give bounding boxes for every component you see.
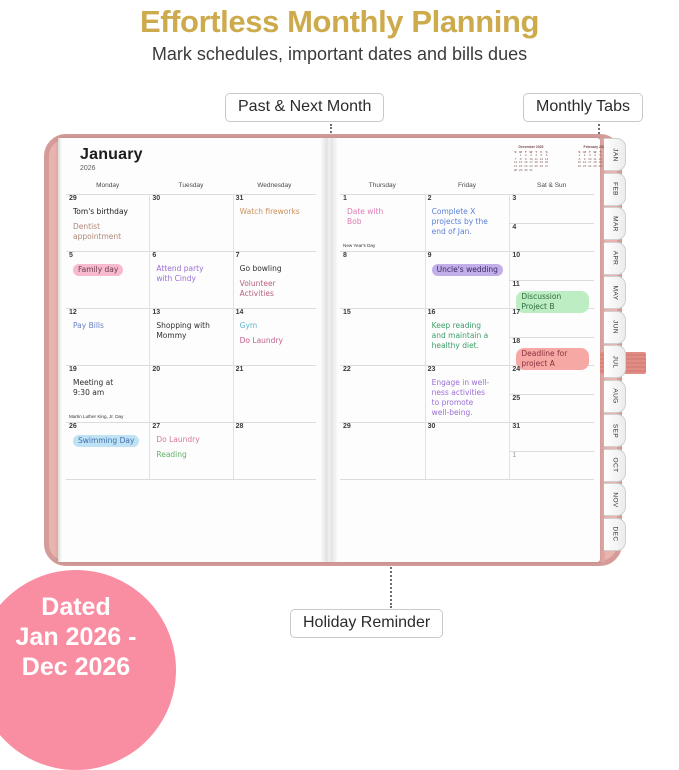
mini-calendar-day: 31: [528, 169, 533, 173]
day-number: 14: [236, 309, 244, 316]
calendar-day-cell[interactable]: 23Engage in well- ness activities to pro…: [425, 365, 510, 422]
note-highlight: Family day: [73, 264, 123, 276]
calendar-note[interactable]: Attend party with Cindy: [156, 264, 227, 284]
calendar-day-cell[interactable]: 8: [340, 251, 425, 308]
page-subtitle: Mark schedules, important dates and bill…: [0, 44, 679, 65]
month-tab-apr[interactable]: APR: [604, 242, 626, 275]
calendar-header: January2026: [80, 146, 143, 172]
day-number: 29: [343, 423, 351, 430]
badge-line-3: Dec 2026: [0, 652, 176, 682]
calendar-day-cell[interactable]: 22: [340, 365, 425, 422]
month-tab-feb[interactable]: FEB: [604, 173, 626, 206]
calendar-day-cell[interactable]: 27Do LaundryReading: [149, 422, 232, 479]
calendar-weekend-cell[interactable]: 24: [509, 365, 594, 394]
day-number: 9: [428, 252, 432, 259]
calendar-weekend-cell[interactable]: 10: [509, 251, 594, 280]
page-title: Effortless Monthly Planning: [0, 4, 679, 40]
calendar-weekend-cell[interactable]: 4: [509, 223, 594, 252]
note-highlight: Uncle's wedding: [432, 264, 503, 276]
calendar-note[interactable]: Engage in well- ness activities to promo…: [432, 378, 505, 418]
calendar-note[interactable]: Uncle's wedding: [432, 264, 505, 276]
mini-calendar-day: [544, 169, 549, 173]
calendar-weekend-cell[interactable]: 17: [509, 308, 594, 337]
calendar-note[interactable]: Complete X projects by the end of Jan.: [432, 207, 505, 237]
calendar-note[interactable]: Go bowling: [240, 264, 311, 274]
calendar-day-cell[interactable]: 28: [233, 422, 316, 479]
grid-line: [340, 479, 594, 480]
month-tab-label: DEC: [611, 527, 618, 542]
day-number: 23: [428, 366, 436, 373]
calendar-day-cell[interactable]: 13Shopping with Mommy: [149, 308, 232, 365]
day-number: 4: [512, 224, 516, 231]
calendar-note[interactable]: Tom's birthday: [73, 207, 144, 217]
calendar-day-cell[interactable]: 9Uncle's wedding: [425, 251, 510, 308]
month-tab-jun[interactable]: JUN: [604, 311, 626, 344]
calendar-day-cell[interactable]: 14GymDo Laundry: [233, 308, 316, 365]
day-number: 29: [69, 195, 77, 202]
month-tab-jul[interactable]: JUL: [604, 345, 626, 378]
grid-line: [66, 479, 316, 480]
calendar-note[interactable]: Swimming Day: [73, 435, 144, 447]
day-number: 6: [152, 252, 156, 259]
month-tab-label: JUN: [611, 320, 618, 334]
day-number: 2: [428, 195, 432, 202]
calendar-note[interactable]: Shopping with Mommy: [156, 321, 227, 341]
calendar-weekend-cell[interactable]: 11Discussion Project B: [509, 280, 594, 309]
weekday-label: Friday: [425, 182, 510, 189]
calendar-note[interactable]: Family day: [73, 264, 144, 276]
weekday-label: Monday: [66, 182, 149, 189]
badge-line-1: Dated: [0, 592, 176, 622]
day-number: 27: [152, 423, 160, 430]
callout-monthly-tabs: Monthly Tabs: [523, 93, 643, 122]
day-number: 18: [512, 338, 520, 345]
month-tab-label: NOV: [611, 492, 618, 507]
day-number: 11: [512, 281, 519, 288]
day-number: 7: [236, 252, 240, 259]
calendar-note[interactable]: Gym: [240, 321, 311, 331]
calendar-note[interactable]: Volunteer Activities: [240, 279, 311, 299]
mini-calendar-day: 30: [523, 169, 528, 173]
calendar-note[interactable]: Date with Bob: [347, 207, 420, 227]
calendar-month-label: January: [80, 146, 143, 164]
calendar-day-cell[interactable]: 6Attend party with Cindy: [149, 251, 232, 308]
day-number: 17: [512, 309, 520, 316]
weekday-label: Sat & Sun: [509, 182, 594, 189]
holiday-label: Martin Luther King, Jr. Day: [69, 414, 123, 419]
mini-calendar-prev[interactable]: December 2025SMTWTFS12345678910111213141…: [502, 146, 560, 172]
day-number: 28: [236, 423, 244, 430]
calendar-note[interactable]: Dentist appointment: [73, 222, 144, 242]
day-number: 13: [152, 309, 160, 316]
calendar-day-cell[interactable]: 31Watch fireworks: [233, 194, 316, 251]
month-tab-label: FEB: [611, 182, 618, 196]
day-number: 22: [343, 366, 351, 373]
weekday-label: Thursday: [340, 182, 425, 189]
calendar-note[interactable]: Keep reading and maintain a healthy diet…: [432, 321, 505, 351]
month-tab-label: JAN: [611, 148, 618, 161]
calendar-day-cell[interactable]: 15: [340, 308, 425, 365]
day-number: 31: [512, 423, 520, 430]
calendar-note[interactable]: Meeting at 9:30 am: [73, 378, 144, 398]
calendar-day-cell[interactable]: 7Go bowlingVolunteer Activities: [233, 251, 316, 308]
calendar-weekend-cell[interactable]: 3: [509, 194, 594, 223]
month-tab-jan[interactable]: JAN: [604, 138, 626, 171]
calendar-day-cell[interactable]: 30: [425, 422, 510, 479]
day-number: 26: [69, 423, 77, 430]
month-tab-label: OCT: [611, 458, 618, 473]
day-number: 1: [512, 452, 516, 459]
month-tab-oct[interactable]: OCT: [604, 449, 626, 482]
month-tab-mar[interactable]: MAR: [604, 207, 626, 240]
day-number: 3: [512, 195, 516, 202]
day-number: 12: [69, 309, 77, 316]
note-highlight: Swimming Day: [73, 435, 139, 447]
day-number: 8: [343, 252, 347, 259]
day-number: 5: [69, 252, 73, 259]
weekday-label: Tuesday: [149, 182, 232, 189]
calendar-day-cell[interactable]: 19Meeting at 9:30 amMartin Luther King, …: [66, 365, 149, 422]
weekday-label: Wednesday: [233, 182, 316, 189]
calendar-day-cell[interactable]: 21: [233, 365, 316, 422]
day-number: 15: [343, 309, 351, 316]
month-tab-label: MAY: [611, 285, 618, 300]
month-tab-nov[interactable]: NOV: [604, 483, 626, 516]
page-edge-left: [58, 138, 62, 562]
calendar-day-cell[interactable]: 20: [149, 365, 232, 422]
month-tab-sep[interactable]: SEP: [604, 414, 626, 447]
month-tab-label: JUL: [611, 355, 618, 368]
day-number: 16: [428, 309, 436, 316]
calendar-day-cell[interactable]: 1Date with BobNew Year's Day: [340, 194, 425, 251]
calendar-weekend-cell[interactable]: 25: [509, 394, 594, 423]
day-number: 1: [343, 195, 347, 202]
calendar-day-cell[interactable]: 29Tom's birthdayDentist appointment: [66, 194, 149, 251]
dated-badge: Dated Jan 2026 - Dec 2026: [0, 570, 176, 770]
calendar-note[interactable]: Reading: [156, 450, 227, 460]
day-number: 24: [512, 366, 520, 373]
calendar-day-cell[interactable]: 2Complete X projects by the end of Jan.: [425, 194, 510, 251]
day-number: 31: [236, 195, 244, 202]
month-tab-dec[interactable]: DEC: [604, 518, 626, 551]
month-tab-label: SEP: [611, 423, 618, 437]
calendar-note[interactable]: Pay Bills: [73, 321, 144, 331]
planner-book: January2026December 2025SMTWTFS123456789…: [44, 134, 622, 566]
calendar-day-cell[interactable]: 12Pay Bills: [66, 308, 149, 365]
calendar-weekend-cell[interactable]: 31: [509, 422, 594, 451]
month-tab-label: MAR: [611, 216, 618, 232]
day-number: 21: [236, 366, 244, 373]
day-number: 10: [512, 252, 520, 259]
holiday-label: New Year's Day: [343, 243, 375, 248]
month-tab-may[interactable]: MAY: [604, 276, 626, 309]
callout-past-next-month: Past & Next Month: [225, 93, 384, 122]
calendar-day-cell[interactable]: 30: [149, 194, 232, 251]
calendar-note[interactable]: Do Laundry: [240, 336, 311, 346]
calendar-day-cell[interactable]: 29: [340, 422, 425, 479]
month-tab-label: APR: [611, 251, 618, 266]
calendar-weekend-cell[interactable]: 18Deadline for project A: [509, 337, 594, 366]
badge-line-2: Jan 2026 -: [0, 622, 176, 652]
calendar-weekend-cell[interactable]: 1: [509, 451, 594, 480]
book-gutter: [320, 138, 338, 562]
callout-holiday-reminder: Holiday Reminder: [290, 609, 443, 638]
month-tab-label: AUG: [611, 388, 618, 403]
day-number: 30: [428, 423, 436, 430]
calendar-day-cell[interactable]: 26Swimming Day: [66, 422, 149, 479]
calendar-day-cell[interactable]: 5Family day: [66, 251, 149, 308]
day-number: 30: [152, 195, 160, 202]
day-number: 25: [512, 395, 520, 402]
calendar-year-label: 2026: [80, 165, 143, 172]
day-number: 19: [69, 366, 77, 373]
day-number: 20: [152, 366, 160, 373]
calendar-day-cell[interactable]: 16Keep reading and maintain a healthy di…: [425, 308, 510, 365]
month-tab-aug[interactable]: AUG: [604, 380, 626, 413]
monthly-tabs[interactable]: JANFEBMARAPRMAYJUNJULAUGSEPOCTNOVDEC: [604, 138, 626, 562]
weekday-header-left: MondayTuesdayWednesday: [66, 182, 316, 189]
calendar-note[interactable]: Watch fireworks: [240, 207, 311, 217]
weekday-header-right: ThursdayFridaySat & Sun: [340, 182, 594, 189]
calendar-note[interactable]: Do Laundry: [156, 435, 227, 445]
